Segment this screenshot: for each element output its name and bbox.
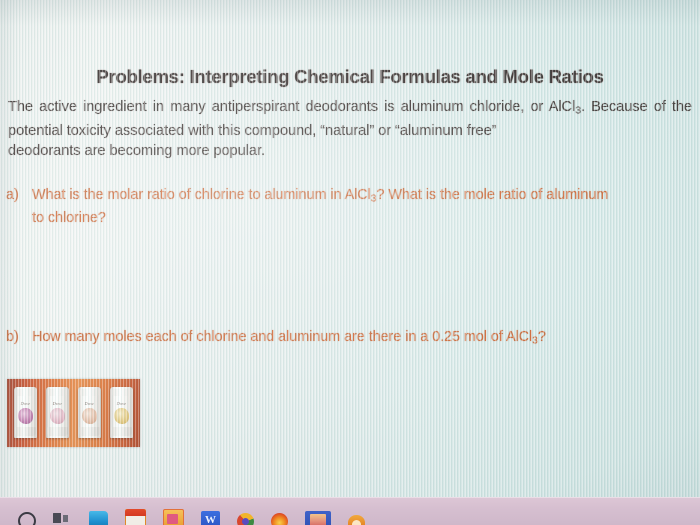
page-title: Problems: Interpreting Chemical Formulas… [0,66,700,88]
word-icon[interactable]: W [201,511,220,525]
chrome-icon[interactable] [237,513,254,525]
deodorant-stick: Dove [78,387,101,438]
deodorant-base [47,427,68,436]
intro-text-line-1: The active ingredient in many antiperspi… [8,99,575,115]
deodorant-swirl-graphic [82,408,97,424]
deodorant-swirl-graphic [18,408,33,424]
deodorant-product-photo: Dove Dove Dove Dove [7,379,140,447]
media-player-icon[interactable] [348,515,365,525]
deodorant-shelf: Dove Dove Dove Dove [11,387,136,438]
photographed-screen: Problems: Interpreting Chemical Formulas… [0,0,700,525]
deodorant-brand-label: Dove [110,401,133,406]
deodorant-base [15,427,36,436]
deodorant-base [111,427,132,436]
file-explorer-icon[interactable] [89,511,108,525]
deodorant-brand-label: Dove [14,401,37,406]
question-b: b)How many moles each of chlorine and al… [6,328,666,351]
deodorant-cap [16,389,35,396]
deodorant-stick: Dove [110,387,133,438]
deodorant-brand-label: Dove [78,401,101,406]
question-b-label: b) [6,328,32,348]
deodorant-cap [80,389,99,396]
windows-taskbar[interactable]: W [0,497,700,525]
deodorant-brand-label: Dove [46,401,69,406]
question-b-body: How many moles each of chlorine and alum… [32,328,546,351]
deodorant-swirl-graphic [114,408,129,424]
question-a-label: a) [6,186,32,206]
intro-paragraph: The active ingredient in many antiperspi… [8,97,692,161]
deodorant-stick: Dove [46,387,69,438]
firefox-icon[interactable] [271,513,288,525]
question-b-text-2: ? [538,329,546,345]
deodorant-stick: Dove [14,387,37,438]
deodorant-cap [48,389,67,396]
question-a: a)What is the molar ratio of chlorine to… [6,186,626,228]
search-icon[interactable] [18,512,36,525]
microsoft-store-icon[interactable] [125,509,146,525]
deodorant-swirl-graphic [50,408,65,424]
question-b-text-1: How many moles each of chlorine and alum… [32,329,532,345]
taskbar-icon-group: W [18,497,365,525]
deodorant-cap [112,389,131,396]
deodorant-base [79,427,100,436]
intro-text-line-1-tail: . Because [581,99,648,115]
question-a-text-1: What is the molar ratio of chlorine to a… [32,187,371,203]
task-view-icon[interactable] [53,511,72,525]
intro-text-line-3: deodorants are becoming more popular. [8,141,692,161]
active-window-icon[interactable] [305,511,331,525]
mail-icon[interactable] [163,509,184,525]
question-a-body: What is the molar ratio of chlorine to a… [32,186,612,228]
